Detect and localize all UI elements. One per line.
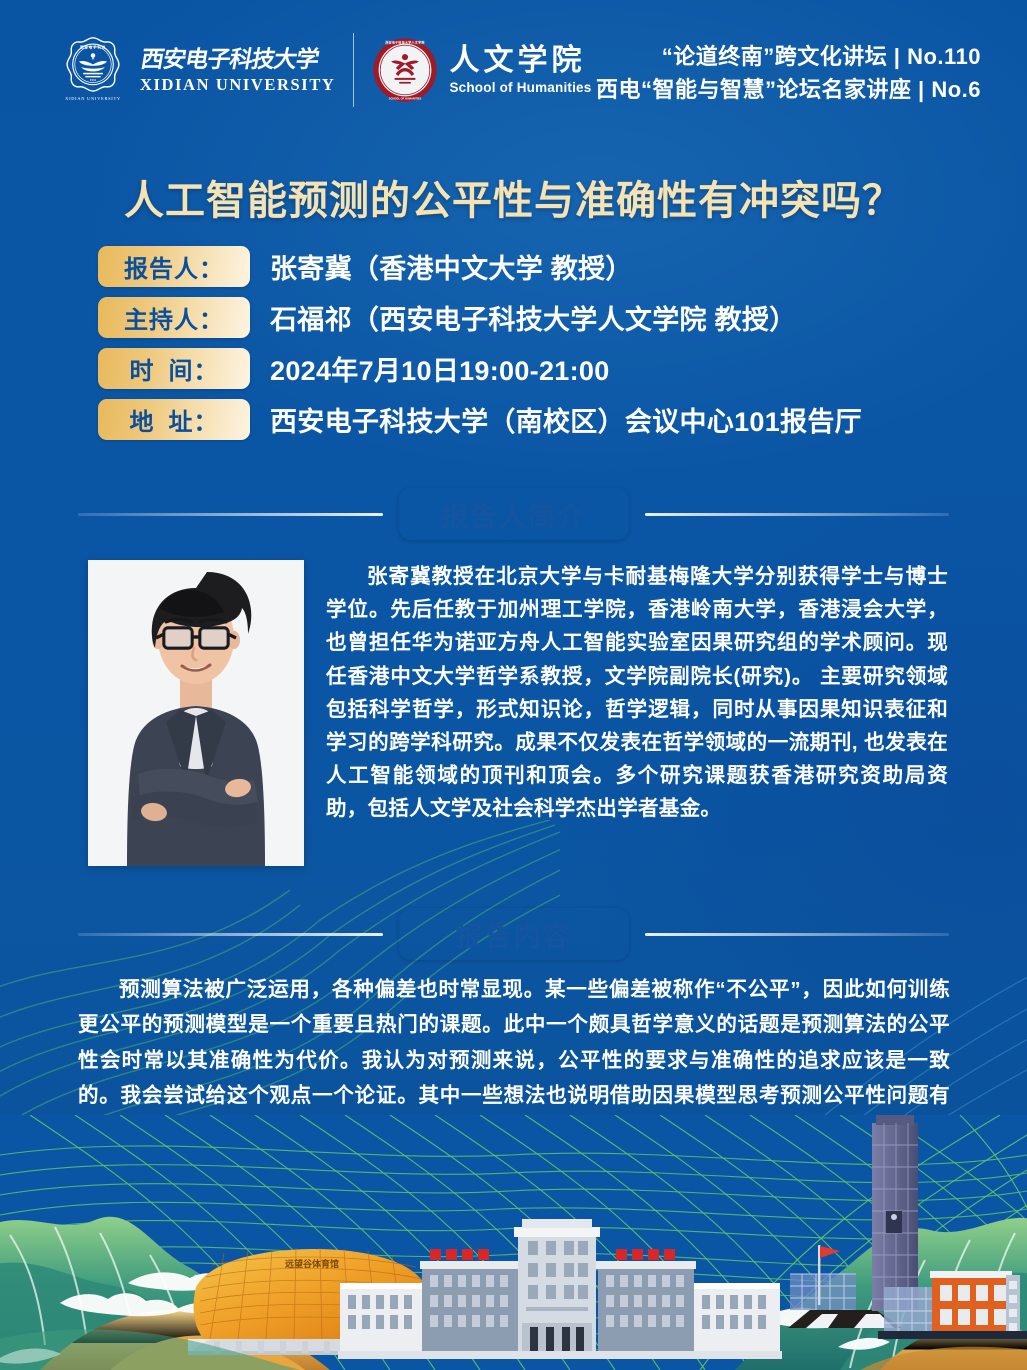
label-time-b: 间：: [169, 351, 219, 386]
poster-header: 西安电子科技 1931 XIDIAN UNIVERSITY 西安电子科技大学 X…: [0, 0, 1027, 138]
label-host: 主持人：: [98, 297, 250, 338]
svg-text:西安电子科技大学人文学院: 西安电子科技大学人文学院: [386, 40, 425, 45]
lecture-series-info: “论道终南”跨文化讲坛 | No.110 西电“智能与智慧”论坛名家讲座 | N…: [596, 40, 981, 106]
svg-text:西安电子科技大学: 西安电子科技大学: [140, 46, 321, 72]
speaker-bio-text: 张寄冀教授在北京大学与卡耐基梅隆大学分别获得学士与博士学位。先后任教于加州理工学…: [326, 560, 948, 866]
value-time: 2024年7月10日19:00-21:00: [270, 349, 610, 388]
section-header-bio: 报告人简介: [78, 488, 949, 540]
lecture-info-block: 报告人： 张寄冀（香港中文大学 教授） 主持人： 石福祁（西安电子科技大学人文学…: [98, 245, 978, 449]
speaker-portrait-illustration: [88, 560, 304, 866]
section-title-bio: 报告人简介: [399, 488, 629, 540]
campus-skyline-illustration: 远望谷体育馆: [0, 1115, 1027, 1370]
series-line-2: 西电“智能与智慧”论坛名家讲座 | No.6: [596, 73, 981, 106]
series-line-1: “论道终南”跨文化讲坛 | No.110: [596, 40, 981, 73]
lecture-title: 人工智能预测的公平性与准确性有冲突吗？: [0, 168, 1027, 226]
section-title-abstract: 报告内容: [399, 908, 629, 960]
header-divider: [353, 33, 354, 107]
info-row-time: 时 间： 2024年7月10日19:00-21:00: [98, 347, 978, 389]
section-header-abstract: 报告内容: [78, 908, 949, 960]
label-time-a: 时: [130, 351, 155, 386]
info-row-speaker: 报告人： 张寄冀（香港中文大学 教授）: [98, 245, 978, 287]
value-address: 西安电子科技大学（南校区）会议中心101报告厅: [270, 400, 862, 439]
svg-text:西安电子科技: 西安电子科技: [80, 44, 106, 49]
poster-root: 西安电子科技 1931 XIDIAN UNIVERSITY 西安电子科技大学 X…: [0, 0, 1027, 1370]
school-of-humanities-seal-icon: 西安电子科技大学人文学院 SCHOOL OF HUMANITIES: [372, 37, 438, 103]
label-time: 时 间：: [98, 348, 250, 389]
svg-text:SCHOOL OF HUMANITIES: SCHOOL OF HUMANITIES: [389, 97, 422, 101]
label-address-b: 址：: [169, 402, 219, 437]
info-row-host: 主持人： 石福祁（西安电子科技大学人文学院 教授）: [98, 296, 978, 338]
svg-text:1931: 1931: [90, 78, 97, 82]
school-of-humanities-logo: 西安电子科技大学人文学院 SCHOOL OF HUMANITIES 人文学院 S…: [372, 37, 591, 103]
xidian-university-seal-icon: 西安电子科技 1931 XIDIAN UNIVERSITY: [58, 35, 128, 105]
label-speaker: 报告人：: [98, 246, 250, 287]
orange-building: [930, 1271, 1020, 1335]
school-of-humanities-name-cn: 人文学院: [449, 45, 591, 77]
value-speaker: 张寄冀（香港中文大学 教授）: [270, 247, 633, 286]
school-of-humanities-name-en: School of Humanities: [449, 80, 591, 95]
info-row-address: 地 址： 西安电子科技大学（南校区）会议中心101报告厅: [98, 398, 978, 440]
value-host: 石福祁（西安电子科技大学人文学院 教授）: [270, 298, 797, 337]
xidian-university-name-en: XIDIAN UNIVERSITY: [140, 75, 335, 95]
svg-text:XIDIAN UNIVERSITY: XIDIAN UNIVERSITY: [65, 96, 121, 101]
section-rule-left: [78, 513, 383, 516]
speaker-photo: [88, 560, 304, 866]
label-address: 地 址：: [98, 399, 250, 440]
stadium-label: 远望谷体育馆: [285, 1258, 339, 1269]
section-rule-right: [645, 513, 950, 516]
section-rule-left: [78, 933, 383, 936]
xidian-university-name-cn-calligraphy: 西安电子科技大学: [140, 46, 330, 72]
label-address-a: 地: [130, 402, 155, 437]
tower-building: [872, 1115, 918, 1311]
speaker-bio-block: 张寄冀教授在北京大学与卡耐基梅隆大学分别获得学士与博士学位。先后任教于加州理工学…: [88, 560, 948, 866]
xidian-university-logo: 西安电子科技 1931 XIDIAN UNIVERSITY 西安电子科技大学 X…: [58, 35, 335, 105]
section-rule-right: [645, 933, 950, 936]
